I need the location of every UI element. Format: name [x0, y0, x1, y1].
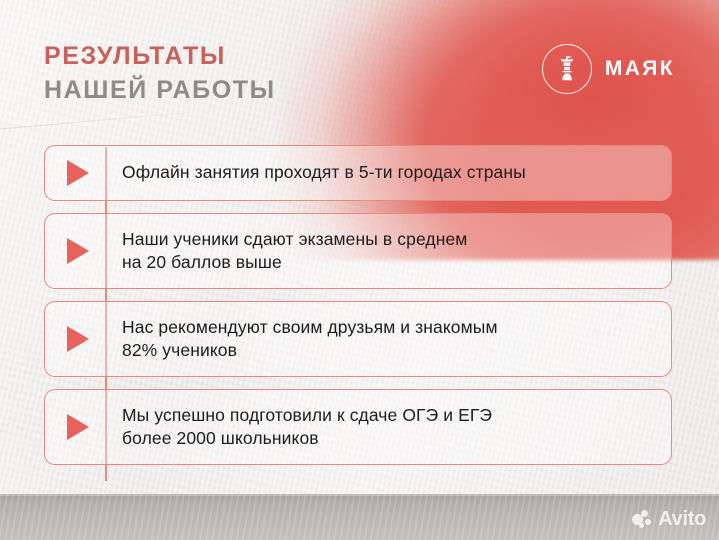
- list-item-label: Мы успешно подготовили к сдаче ОГЭ и ЕГЭ…: [106, 404, 671, 451]
- brand-logo[interactable]: МАЯК: [542, 44, 675, 94]
- play-triangle-icon: [45, 238, 106, 264]
- slide-root: РЕЗУЛЬТАТЫ НАШЕЙ РАБОТЫ МАЯК: [0, 0, 719, 540]
- list-item-label: Офлайн занятия проходят в 5-ти городах с…: [106, 161, 671, 184]
- list-item[interactable]: Нас рекомендуют своим друзьям и знакомым…: [44, 301, 672, 377]
- lighthouse-icon: [542, 44, 592, 94]
- bottom-gray-band: [0, 494, 719, 540]
- avito-circles-icon: [632, 510, 653, 529]
- page-title: РЕЗУЛЬТАТЫ НАШЕЙ РАБОТЫ: [44, 40, 276, 108]
- play-triangle-icon: [45, 414, 106, 440]
- play-triangle-icon: [45, 326, 106, 352]
- list-item-label: Нас рекомендуют своим друзьям и знакомым…: [106, 316, 671, 363]
- page-title-line-1: РЕЗУЛЬТАТЫ: [44, 40, 276, 74]
- brand-logo-text: МАЯК: [605, 57, 675, 81]
- avito-watermark: Avito: [632, 509, 706, 529]
- page-title-line-2: НАШЕЙ РАБОТЫ: [44, 74, 276, 108]
- avito-watermark-text: Avito: [658, 509, 706, 529]
- list-item[interactable]: Мы успешно подготовили к сдаче ОГЭ и ЕГЭ…: [44, 389, 672, 465]
- list-item[interactable]: Наши ученики сдают экзамены в среднем на…: [44, 213, 672, 289]
- list-item-label: Наши ученики сдают экзамены в среднем на…: [106, 228, 671, 275]
- bottom-band-texture: [0, 494, 719, 540]
- play-triangle-icon: [45, 160, 106, 186]
- results-list: Офлайн занятия проходят в 5-ти городах с…: [44, 145, 672, 465]
- list-item[interactable]: Офлайн занятия проходят в 5-ти городах с…: [44, 145, 672, 201]
